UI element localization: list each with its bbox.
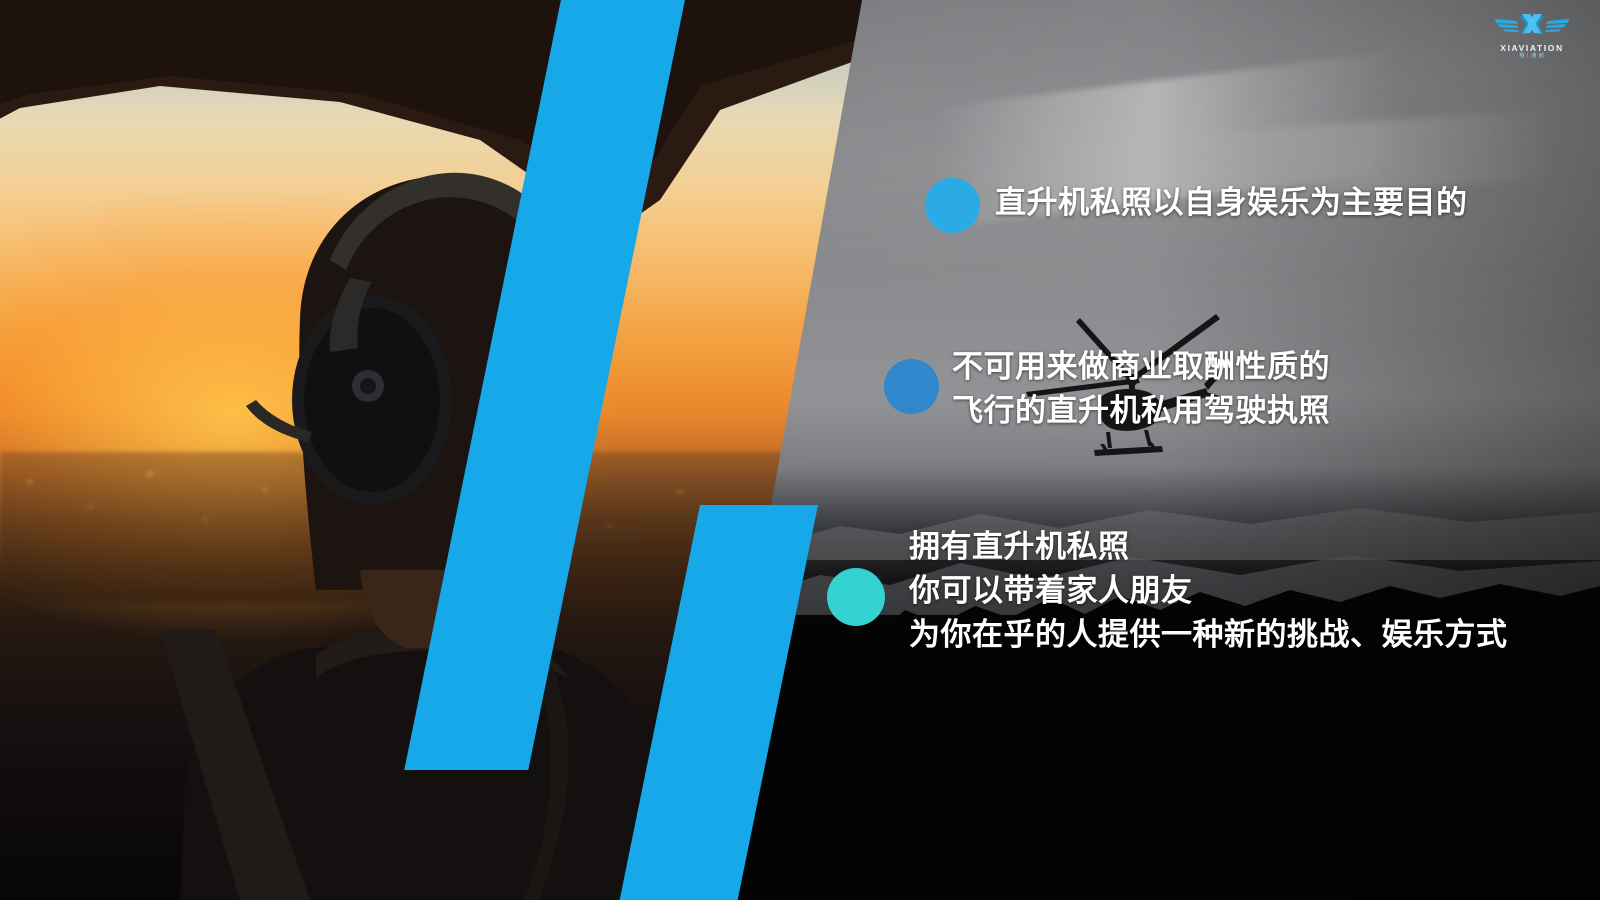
bullet-2-line-1: 不可用来做商业取酬性质的 — [952, 345, 1330, 389]
bullet-3-line-3: 为你在乎的人提供一种新的挑战、娱乐方式 — [909, 613, 1508, 657]
presentation-slide: 直升机私照以自身娱乐为主要目的 不可用来做商业取酬性质的 飞行的直升机私用驾驶执… — [0, 0, 1600, 900]
bullet-dot-2 — [884, 359, 939, 414]
bullet-2-line-2: 飞行的直升机私用驾驶执照 — [952, 389, 1330, 433]
bullet-dot-1 — [925, 178, 980, 233]
bullet-text-1: 直升机私照以自身娱乐为主要目的 — [995, 181, 1468, 225]
bullet-1-line-1: 直升机私照以自身娱乐为主要目的 — [995, 181, 1468, 225]
bullet-3-line-1: 拥有直升机私照 — [909, 525, 1508, 569]
bullet-text-3: 拥有直升机私照 你可以带着家人朋友 为你在乎的人提供一种新的挑战、娱乐方式 — [909, 525, 1508, 657]
bullet-3-line-2: 你可以带着家人朋友 — [909, 569, 1508, 613]
company-logo: XIAVIATION 翔 | 通 航 — [1486, 8, 1578, 66]
winged-x-icon — [1494, 8, 1570, 42]
cockpit-roof-silhouette — [0, 0, 900, 320]
logo-name: XIAVIATION — [1486, 43, 1578, 53]
logo-subtitle: 翔 | 通 航 — [1486, 53, 1578, 60]
bullet-text-2: 不可用来做商业取酬性质的 飞行的直升机私用驾驶执照 — [952, 345, 1330, 433]
bullet-dot-3 — [827, 568, 885, 626]
